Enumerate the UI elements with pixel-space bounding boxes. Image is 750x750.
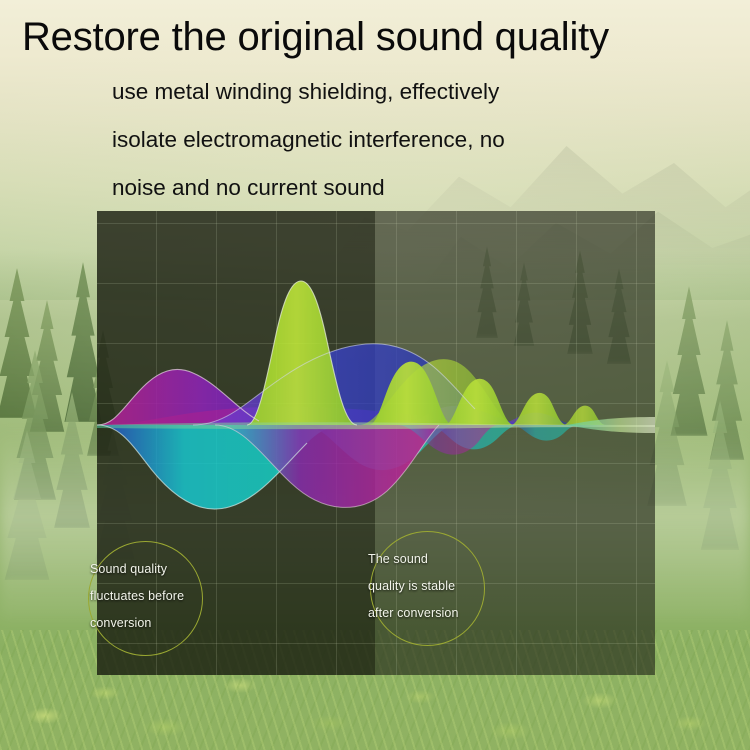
- subtext-line-3: noise and no current sound: [112, 164, 505, 212]
- callout-after-line-2: quality is stable: [368, 573, 459, 600]
- callout-before-line-3: conversion: [90, 610, 184, 637]
- page-headline: Restore the original sound quality: [22, 14, 609, 60]
- callout-after-line-1: The sound: [368, 546, 459, 573]
- callout-before-line-2: fluctuates before: [90, 583, 184, 610]
- callout-after-line-3: after conversion: [368, 600, 459, 627]
- page-subtext: use metal winding shielding, effectively…: [112, 68, 505, 212]
- subtext-line-2: isolate electromagnetic interference, no: [112, 116, 505, 164]
- callout-before-line-1: Sound quality: [90, 556, 184, 583]
- callout-label-after: The sound quality is stable after conver…: [368, 546, 459, 627]
- subtext-line-1: use metal winding shielding, effectively: [112, 68, 505, 116]
- callout-label-before: Sound quality fluctuates before conversi…: [90, 556, 184, 637]
